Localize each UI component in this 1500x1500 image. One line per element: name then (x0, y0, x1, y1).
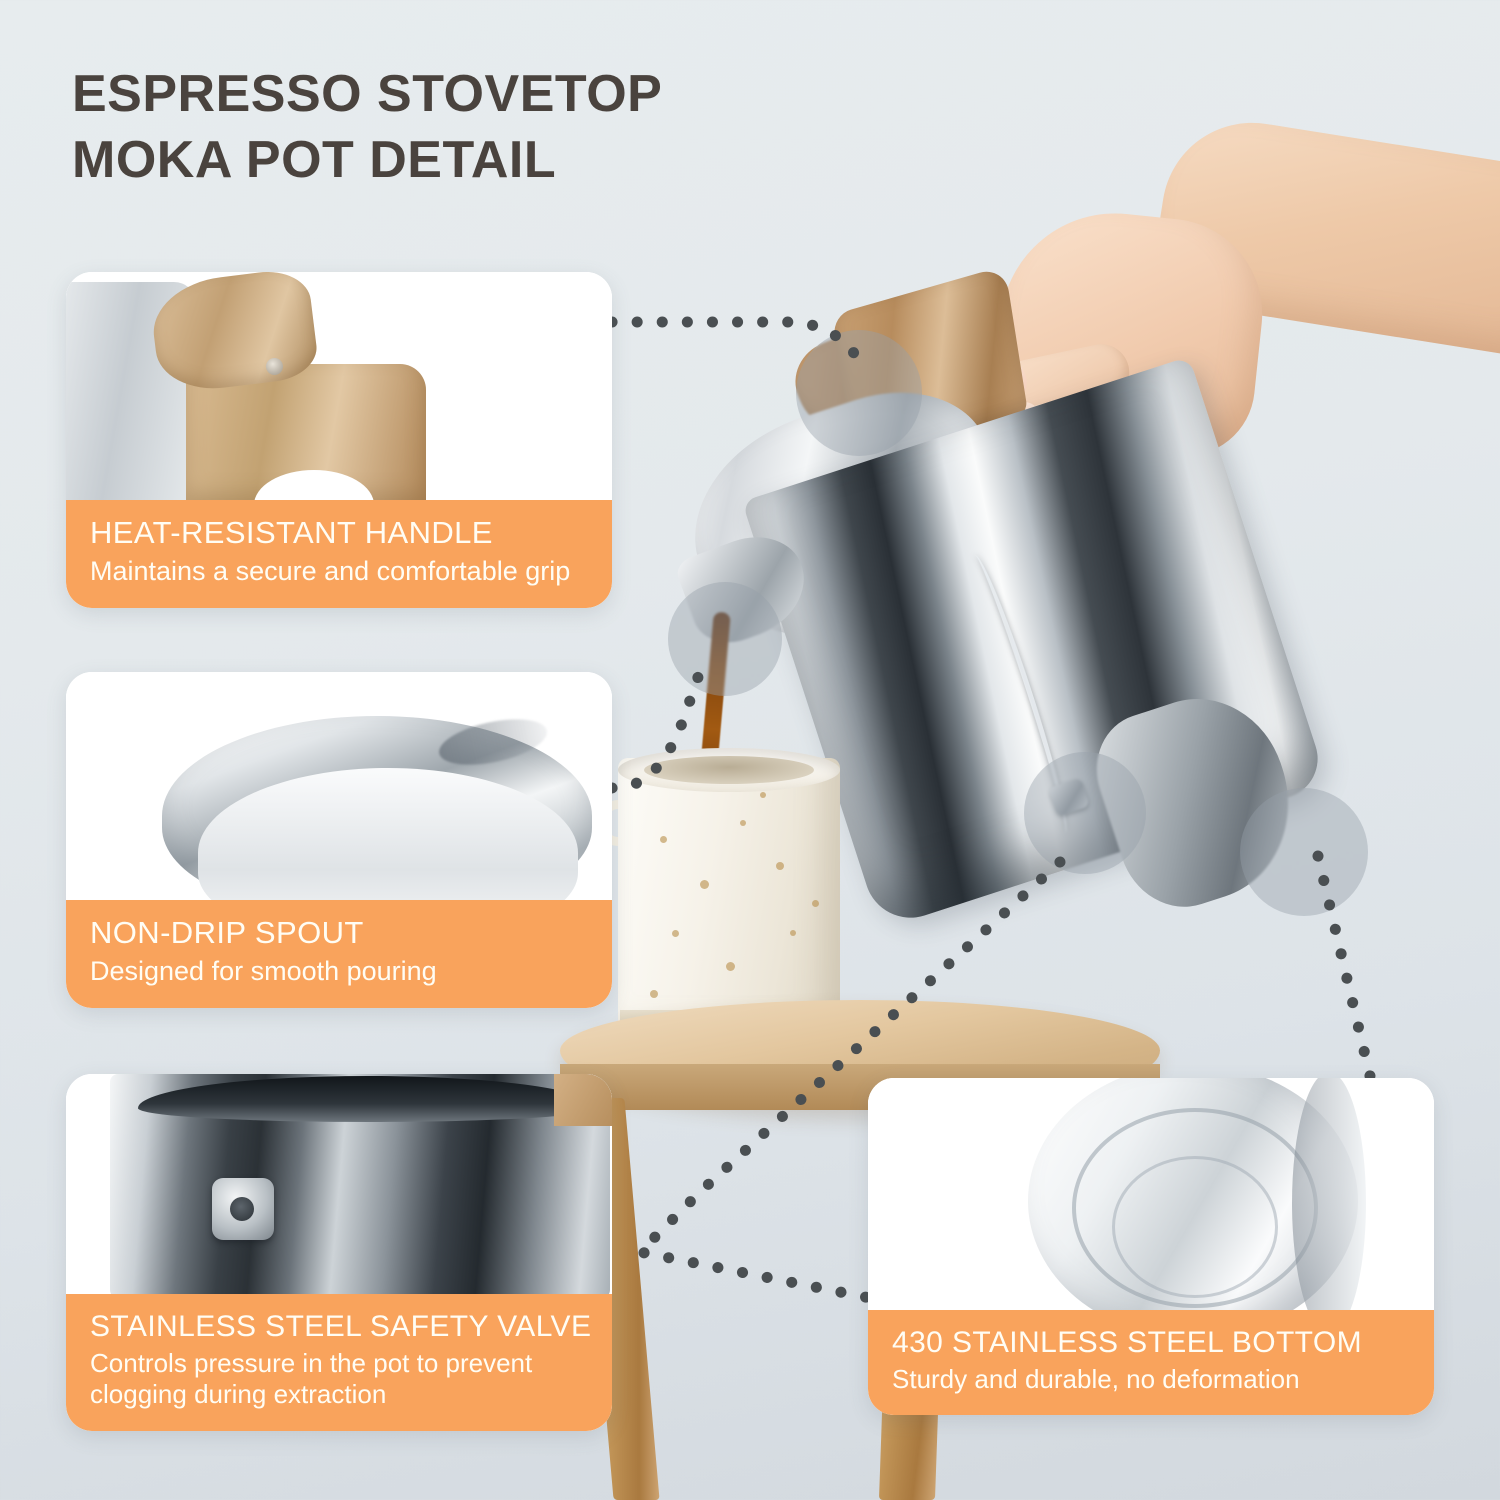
handle-closeup-photo (66, 272, 612, 500)
callout-bar: STAINLESS STEEL SAFETY VALVE Controls pr… (66, 1294, 612, 1431)
feature-subtext: Controls pressure in the pot to prevent … (90, 1348, 588, 1411)
valve-closeup-photo (66, 1074, 612, 1294)
cup-speckle (650, 990, 658, 998)
callout-bar: 430 STAINLESS STEEL BOTTOM Sturdy and du… (868, 1310, 1434, 1415)
feature-card-430-stainless-steel-bottom[interactable]: 430 STAINLESS STEEL BOTTOM Sturdy and du… (868, 1078, 1434, 1415)
wooden-handle-edge (554, 1074, 612, 1126)
bottom-closeup-photo (868, 1078, 1434, 1310)
callout-bar: HEAT-RESISTANT HANDLE Maintains a secure… (66, 500, 612, 608)
cup-speckle (740, 820, 746, 826)
handle-screw (266, 358, 283, 375)
cup-interior (644, 756, 814, 784)
cup-speckle (760, 792, 766, 798)
cup-speckle (672, 930, 679, 937)
feature-subtext: Designed for smooth pouring (90, 955, 588, 988)
feature-card-non-drip-spout[interactable]: NON-DRIP SPOUT Designed for smooth pouri… (66, 672, 612, 1008)
cup-speckle (790, 930, 796, 936)
bottom-hotspot[interactable] (1240, 788, 1368, 916)
feature-card-stainless-steel-safety-valve[interactable]: STAINLESS STEEL SAFETY VALVE Controls pr… (66, 1074, 612, 1431)
cup-speckle (660, 836, 667, 843)
base-ring-inner (1112, 1156, 1278, 1298)
handle-hotspot[interactable] (796, 330, 922, 456)
feature-subtext: Sturdy and durable, no deformation (892, 1364, 1410, 1396)
cup-speckle (700, 880, 709, 889)
spout-closeup-photo (66, 672, 612, 900)
feature-heading: STAINLESS STEEL SAFETY VALVE (90, 1310, 588, 1344)
cup-speckle (776, 862, 784, 870)
feature-card-heat-resistant-handle[interactable]: HEAT-RESISTANT HANDLE Maintains a secure… (66, 272, 612, 608)
feature-subtext: Maintains a secure and comfortable grip (90, 555, 588, 588)
callout-bar: NON-DRIP SPOUT Designed for smooth pouri… (66, 900, 612, 1008)
cup-speckle (812, 900, 819, 907)
base-edge-highlight (1292, 1078, 1366, 1310)
valve-hotspot[interactable] (1024, 752, 1146, 874)
spout-hotspot[interactable] (668, 582, 782, 696)
cup-speckle (726, 962, 735, 971)
feature-heading: 430 STAINLESS STEEL BOTTOM (892, 1326, 1410, 1360)
feature-heading: HEAT-RESISTANT HANDLE (90, 516, 588, 551)
feature-heading: NON-DRIP SPOUT (90, 916, 588, 951)
safety-valve-nut (212, 1178, 274, 1240)
